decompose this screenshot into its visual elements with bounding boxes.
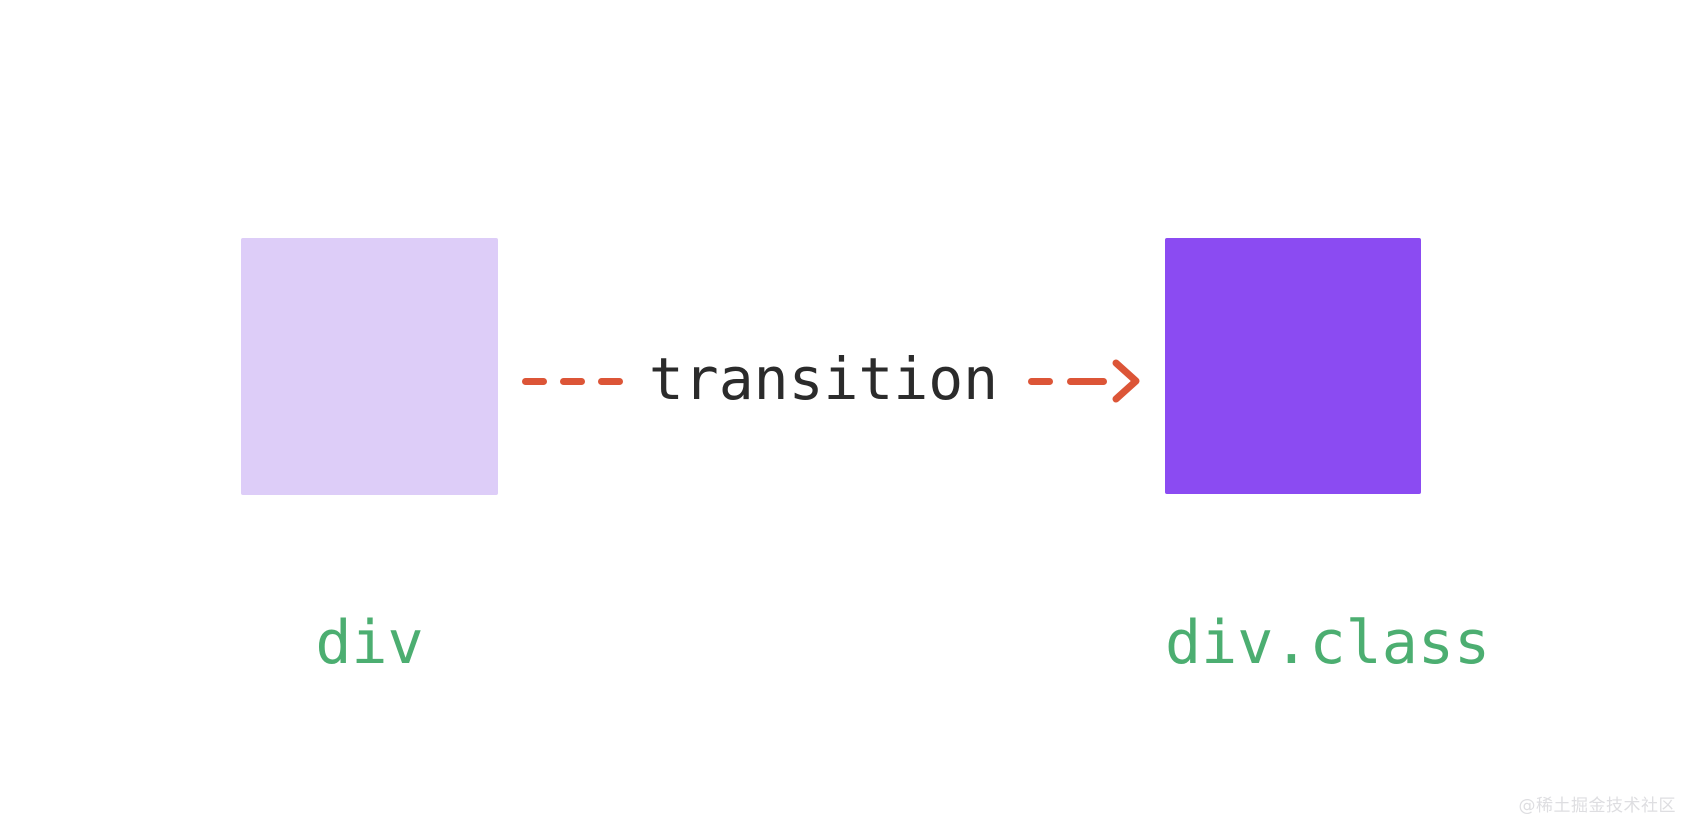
div-initial-state-square: [241, 238, 498, 495]
arrow-dashes-left: [522, 378, 623, 385]
label-div: div: [241, 613, 498, 673]
dash-segment: [522, 378, 547, 385]
watermark: @稀土掘金技术社区: [1519, 791, 1677, 816]
label-div-class: div.class: [1165, 613, 1421, 673]
transition-label: transition: [649, 350, 998, 408]
dash-segment: [560, 378, 585, 385]
arrow-right-icon: [1111, 359, 1141, 403]
dash-segment: [1028, 378, 1053, 385]
dash-segment: [598, 378, 623, 385]
diagram-canvas: transition div div.class @稀土掘金技术社区: [0, 0, 1700, 830]
dash-segment: [1067, 378, 1107, 385]
div-class-final-state-square: [1165, 238, 1421, 494]
transition-arrow: transition: [498, 338, 1165, 424]
arrow-dashes-right: [1028, 378, 1107, 385]
